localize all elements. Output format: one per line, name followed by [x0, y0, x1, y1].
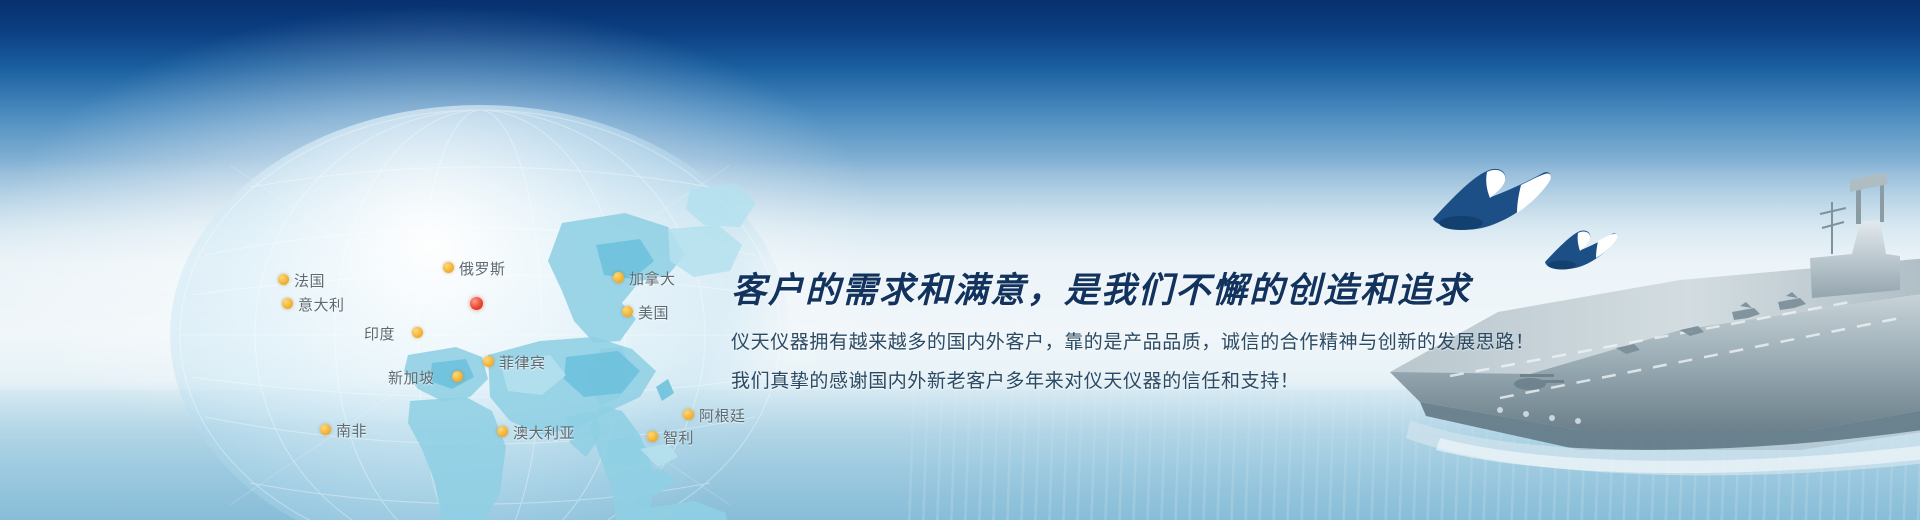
- map-marker-highlight: [470, 297, 483, 310]
- map-label: 印度: [364, 323, 395, 344]
- map-marker: [497, 426, 508, 437]
- map-label: 阿根廷: [699, 405, 746, 426]
- map-marker: [443, 262, 454, 273]
- map-label: 法国: [294, 270, 325, 291]
- map-label: 澳大利亚: [513, 422, 575, 443]
- map-marker: [647, 431, 658, 442]
- map-label: 俄罗斯: [459, 258, 506, 279]
- map-label: 智利: [663, 427, 694, 448]
- banner-subtitle-line-2: 我们真挚的感谢国内外新老客户多年来对仪天仪器的信任和支持！: [731, 367, 1551, 396]
- map-marker: [683, 409, 694, 420]
- banner-text-block: 客户的需求和满意，是我们不懈的创造和追求 仪天仪器拥有越来越多的国内外客户，靠的…: [731, 270, 1551, 397]
- hero-banner: 法国意大利俄罗斯加拿大美国印度菲律宾新加坡南非澳大利亚智利阿根廷: [0, 0, 1920, 520]
- map-label: 意大利: [298, 294, 345, 315]
- map-marker: [483, 356, 494, 367]
- map-marker: [282, 298, 293, 309]
- globe-icon: [170, 105, 790, 520]
- map-label: 美国: [638, 302, 669, 323]
- map-marker: [613, 272, 624, 283]
- banner-subtitle-line-1: 仪天仪器拥有越来越多的国内外客户，靠的是产品品质，诚信的合作精神与创新的发展思路…: [731, 328, 1551, 357]
- world-landmass: [170, 105, 790, 520]
- map-marker: [320, 424, 331, 435]
- map-label: 南非: [336, 420, 367, 441]
- map-label: 加拿大: [629, 268, 676, 289]
- map-marker: [622, 306, 633, 317]
- page-title: 客户的需求和满意，是我们不懈的创造和追求: [731, 270, 1551, 312]
- map-label: 新加坡: [388, 367, 435, 388]
- map-marker: [452, 371, 463, 382]
- map-marker: [278, 274, 289, 285]
- map-label: 菲律宾: [499, 352, 546, 373]
- map-marker: [412, 327, 423, 338]
